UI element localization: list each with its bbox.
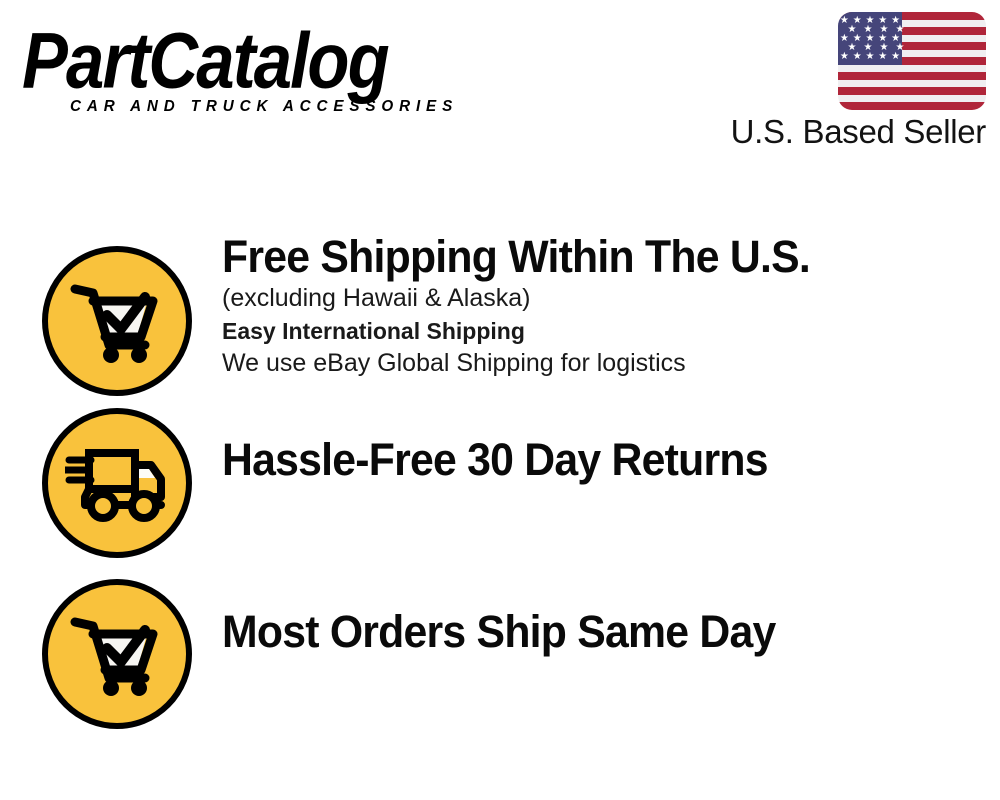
page-header: PartCatalog CAR AND TRUCK ACCESSORIES ★★… xyxy=(0,0,1000,175)
feature-row: Free Shipping Within The U.S. (excluding… xyxy=(0,232,1000,402)
us-flag-icon: ★★★★★ ★★★★ ★★★★★ ★★★★ ★★★★★ xyxy=(838,12,986,110)
feature-row: Most Orders Ship Same Day xyxy=(0,572,1000,742)
feature-icon-container xyxy=(42,579,192,729)
feature-icon-container xyxy=(42,408,192,558)
brand-logo[interactable]: PartCatalog CAR AND TRUCK ACCESSORIES xyxy=(22,18,492,118)
flag-stripe xyxy=(838,72,986,80)
flag-stripe xyxy=(838,80,986,88)
flag-stripe xyxy=(838,65,986,73)
flag-stripe xyxy=(838,87,986,95)
feature-icon-container xyxy=(42,246,192,396)
flag-canton: ★★★★★ ★★★★ ★★★★★ ★★★★ ★★★★★ xyxy=(838,12,902,65)
feature-subline: (excluding Hawaii & Alaska) xyxy=(222,282,980,315)
flag-star-row: ★★★★★ xyxy=(838,51,902,62)
us-based-seller-label: U.S. Based Seller xyxy=(731,112,986,152)
feature-text-block: Free Shipping Within The U.S. (excluding… xyxy=(222,232,980,380)
feature-subline: We use eBay Global Shipping for logistic… xyxy=(222,347,980,380)
feature-text-block: Most Orders Ship Same Day xyxy=(222,607,980,657)
feature-list: Free Shipping Within The U.S. (excluding… xyxy=(0,232,1000,742)
feature-row: Hassle-Free 30 Day Returns xyxy=(0,402,1000,572)
delivery-truck-icon xyxy=(42,408,192,558)
feature-subline: Easy International Shipping xyxy=(222,315,980,347)
feature-title: Most Orders Ship Same Day xyxy=(222,607,942,657)
flag-stripe xyxy=(838,102,986,110)
feature-title: Free Shipping Within The U.S. xyxy=(222,232,942,282)
shopping-cart-check-icon xyxy=(42,579,192,729)
feature-title: Hassle-Free 30 Day Returns xyxy=(222,435,942,485)
flag-stripe xyxy=(838,95,986,103)
brand-wordmark: PartCatalog xyxy=(22,18,388,104)
brand-tagline: CAR AND TRUCK ACCESSORIES xyxy=(70,98,458,116)
shopping-cart-check-icon xyxy=(42,246,192,396)
feature-text-block: Hassle-Free 30 Day Returns xyxy=(222,435,980,485)
